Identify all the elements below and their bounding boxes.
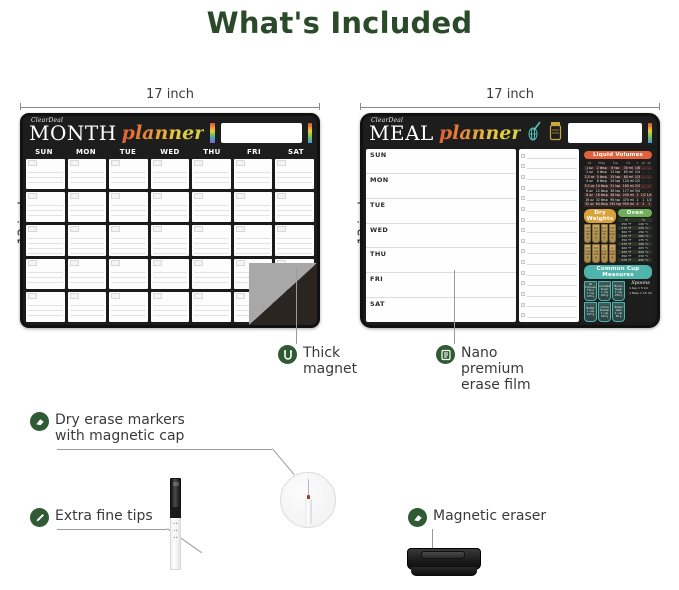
writing-lines <box>194 301 229 320</box>
shopping-list-item[interactable] <box>521 300 577 310</box>
writing-lines <box>194 234 229 253</box>
month-day-cell[interactable] <box>275 225 314 255</box>
fine-tip-magnifier <box>280 472 336 528</box>
nano-film-label: Nano premium erase film <box>461 345 531 393</box>
month-day-cell[interactable] <box>68 192 107 222</box>
liquid-cell: 5.3 oz <box>584 184 595 189</box>
dry-weight-jar: 2/3 cup 150 g <box>584 244 591 263</box>
writing-lines <box>28 268 63 287</box>
checkbox-icon[interactable] <box>521 281 525 285</box>
dry-weight-jars-row-1: 1/8 cup 30 g1/4 cup 55 g1/3 cup 75 g1/2 … <box>584 224 616 243</box>
meal-title-main: MEAL <box>369 123 434 143</box>
meal-planner-board[interactable]: ClearDeal MEAL planner <box>360 113 660 328</box>
conversion-chart-panel: Liquid Volumes oztbsptspmlcptqt 1 oz2 tb… <box>582 149 654 322</box>
list-line <box>527 206 577 212</box>
date-number-box[interactable] <box>153 193 162 199</box>
callout-extra-fine-tips: Extra fine tips <box>30 508 153 527</box>
dry-erase-marker[interactable]: •••••• <box>170 478 181 570</box>
date-number-box[interactable] <box>111 260 120 266</box>
date-number-box[interactable] <box>111 193 120 199</box>
list-line <box>527 164 577 170</box>
marker-magnetic-cap[interactable] <box>170 478 181 508</box>
writing-lines <box>70 268 105 287</box>
month-day-header-sat: SAT <box>275 146 317 159</box>
writing-lines <box>28 201 63 220</box>
marker-barrel: •••••• <box>170 518 181 570</box>
month-day-cell[interactable] <box>192 259 231 289</box>
cup-measure: Brown Sugar 1 cup 220 g <box>612 281 625 301</box>
month-day-cell[interactable] <box>151 192 190 222</box>
month-day-cell[interactable] <box>109 259 148 289</box>
writing-lines <box>70 301 105 320</box>
month-column-sun <box>26 159 65 322</box>
meal-rainbow-bar-icon <box>648 123 652 143</box>
list-line <box>527 185 577 191</box>
shopping-list-item[interactable] <box>521 289 577 299</box>
month-day-header-wed: WED <box>149 146 191 159</box>
month-day-header-row: SUNMONTUEWEDTHUFRISAT <box>23 146 317 159</box>
liquid-cell: 10 tbsp <box>595 184 609 189</box>
whisk-icon <box>527 121 545 145</box>
common-cup-measures-title: Common Cup Measures <box>584 265 652 279</box>
rainbow-bar-icon <box>210 123 215 143</box>
date-number-box[interactable] <box>236 160 245 166</box>
list-line <box>527 238 577 244</box>
liquid-volumes-table: oztbsptspmlcptqt 1 oz2 tbsp6 tsp30 ml1/8… <box>584 161 652 207</box>
month-column-thu <box>192 159 231 322</box>
liquid-cell: 31 tsp <box>609 184 623 189</box>
liquid-volumes-title: Liquid Volumes <box>584 151 652 159</box>
date-number-box[interactable] <box>153 293 162 299</box>
meal-board-header: ClearDeal MEAL planner <box>363 116 657 146</box>
shopping-list-item[interactable] <box>521 247 577 257</box>
list-line <box>527 280 577 286</box>
extra-fine-tips-label: Extra fine tips <box>55 508 153 524</box>
cup-measure: Butter 1 cup 227 g <box>584 302 597 322</box>
month-day-cell[interactable] <box>151 225 190 255</box>
liquid-cell: 160 ml <box>622 184 635 189</box>
oven-row: 475 °F245 °C <box>618 258 652 262</box>
shopping-list-item[interactable] <box>521 172 577 182</box>
cup-measure: Rolled Oats 1 cup 90 g <box>612 302 625 322</box>
meal-day-row-fri[interactable]: FRI <box>366 273 516 298</box>
shopping-list-item[interactable] <box>521 215 577 225</box>
liquid-cell: 64 tbsp <box>595 202 609 207</box>
list-line <box>527 291 577 297</box>
checkbox-icon[interactable] <box>521 249 525 253</box>
date-number-box[interactable] <box>277 226 286 232</box>
meal-day-row-tue[interactable]: TUE <box>366 199 516 224</box>
checkbox-icon[interactable] <box>521 154 525 158</box>
meal-day-row-thu[interactable]: THU <box>366 248 516 273</box>
markers-leader-diag <box>272 448 295 475</box>
month-day-cell[interactable] <box>109 159 148 189</box>
liquid-cell: 1 <box>646 202 652 207</box>
date-number-box[interactable] <box>236 293 245 299</box>
dry-weight-jars-row-2: 2/3 cup 150 g3/4 cup 170 g1 cup 225 g2 c… <box>584 244 616 263</box>
checkbox-icon[interactable] <box>521 292 525 296</box>
mason-jar-icon <box>549 121 562 145</box>
writing-lines <box>194 268 229 287</box>
date-number-box[interactable] <box>194 260 203 266</box>
month-width-dimension: 17 inch <box>20 84 320 110</box>
liquid-cell: 192 tsp <box>609 202 623 207</box>
markers-leader-h <box>57 449 272 450</box>
writing-lines <box>277 234 312 253</box>
dry-weight-jar: 1/4 cup 55 g <box>592 224 599 243</box>
writing-lines <box>111 234 146 253</box>
list-line <box>527 227 577 233</box>
date-number-box[interactable] <box>28 160 37 166</box>
month-day-header-fri: FRI <box>233 146 275 159</box>
date-number-box[interactable] <box>111 226 120 232</box>
fine-tips-leader-h <box>57 529 167 530</box>
writing-lines <box>111 168 146 187</box>
date-number-box[interactable] <box>28 193 37 199</box>
writing-lines <box>236 201 271 220</box>
date-number-box[interactable] <box>236 260 245 266</box>
writing-lines <box>236 168 271 187</box>
shopping-list-item[interactable] <box>521 236 577 246</box>
month-day-cell[interactable] <box>68 292 107 322</box>
date-number-box[interactable] <box>153 260 162 266</box>
month-day-cell[interactable] <box>275 159 314 189</box>
marker-color-band <box>170 508 181 518</box>
writing-lines <box>70 168 105 187</box>
month-planner-board[interactable]: ClearDeal MONTH planner SUNMONTUEWEDTHUF… <box>20 113 320 328</box>
month-title-script: planner <box>122 124 205 143</box>
month-day-cell[interactable] <box>192 159 231 189</box>
oven-table: °F°C250 °F120 °C275 °F135 °C300 °F150 °C… <box>618 218 652 262</box>
shopping-list-item[interactable] <box>521 162 577 172</box>
date-number-box[interactable] <box>194 226 203 232</box>
writing-lines <box>111 268 146 287</box>
shopping-list-item[interactable] <box>521 183 577 193</box>
dry-weight-jar: 3/4 cup 170 g <box>592 244 599 263</box>
eraser-icon <box>30 412 49 431</box>
checkbox-icon[interactable] <box>521 239 525 243</box>
eraser-icon <box>408 508 427 527</box>
oven-cell: 475 °F <box>618 258 635 262</box>
checkbox-icon[interactable] <box>521 303 525 307</box>
shopping-list-item[interactable] <box>521 151 577 161</box>
checkbox-icon[interactable] <box>521 196 525 200</box>
writing-lines <box>28 234 63 253</box>
marker-barrel-print: •• <box>173 536 178 540</box>
month-day-cell[interactable] <box>109 192 148 222</box>
month-day-header-tue: TUE <box>107 146 149 159</box>
date-number-box[interactable] <box>70 293 79 299</box>
writing-lines <box>111 301 146 320</box>
writing-lines <box>153 168 188 187</box>
date-number-box[interactable] <box>153 226 162 232</box>
meal-checklist[interactable] <box>519 149 579 322</box>
writing-lines <box>153 301 188 320</box>
date-number-box[interactable] <box>70 260 79 266</box>
month-column-tue <box>109 159 148 322</box>
month-title-main: MONTH <box>29 123 117 143</box>
list-line <box>527 217 577 223</box>
month-day-cell[interactable] <box>26 192 65 222</box>
callout-dry-erase-markers: Dry erase markers with magnetic cap <box>30 412 185 444</box>
month-day-cell[interactable] <box>26 259 65 289</box>
writing-lines <box>277 168 312 187</box>
month-board-header: ClearDeal MONTH planner <box>23 116 317 146</box>
marker-barrel-print: •• <box>173 522 178 526</box>
writing-lines <box>153 268 188 287</box>
cup-measure: Cocoa Powder 1 cup 100 g <box>598 302 611 322</box>
month-name-input[interactable] <box>221 123 302 143</box>
checkbox-icon[interactable] <box>521 218 525 222</box>
date-number-box[interactable] <box>194 160 203 166</box>
meal-day-row-sat[interactable]: SAT <box>366 298 516 322</box>
shopping-list-item[interactable] <box>521 204 577 214</box>
month-day-cell[interactable] <box>68 225 107 255</box>
meal-width-dimension: 17 inch <box>360 84 660 110</box>
date-number-box[interactable] <box>194 193 203 199</box>
month-day-cell[interactable] <box>234 225 273 255</box>
date-number-box[interactable] <box>277 160 286 166</box>
writing-lines <box>28 168 63 187</box>
writing-lines <box>153 234 188 253</box>
shopping-list-item[interactable] <box>521 257 577 267</box>
meal-week-input[interactable] <box>568 123 642 143</box>
marker-barrel-print: •• <box>173 529 178 533</box>
writing-lines <box>70 201 105 220</box>
date-number-box[interactable] <box>111 160 120 166</box>
month-day-cell[interactable] <box>68 159 107 189</box>
month-day-cell[interactable] <box>151 259 190 289</box>
dry-weight-jar: 1/3 cup 75 g <box>601 224 608 243</box>
magnetic-eraser-label: Magnetic eraser <box>433 508 546 524</box>
date-number-box[interactable] <box>28 260 37 266</box>
liquid-cell: 950 ml <box>622 202 635 207</box>
month-day-cell[interactable] <box>192 292 231 322</box>
checkbox-icon[interactable] <box>521 313 525 317</box>
list-line <box>527 153 577 159</box>
date-number-box[interactable] <box>28 293 37 299</box>
month-day-cell[interactable] <box>109 225 148 255</box>
magnet-icon <box>278 345 297 364</box>
list-line <box>527 270 577 276</box>
meal-board-body: SUNMONTUEWEDTHUFRISAT Liquid Volumes ozt… <box>363 146 657 325</box>
meal-day-row-sun[interactable]: SUN <box>366 149 516 174</box>
shopping-list-item[interactable] <box>521 310 577 320</box>
month-column-wed <box>151 159 190 322</box>
list-line <box>527 249 577 255</box>
date-number-box[interactable] <box>194 293 203 299</box>
month-day-header-sun: SUN <box>23 146 65 159</box>
dry-and-oven-row: Dry Weights 1/8 cup 30 g1/4 cup 55 g1/3 … <box>584 209 652 263</box>
month-day-cell[interactable] <box>192 225 231 255</box>
list-line <box>527 312 577 318</box>
shopping-list-item[interactable] <box>521 279 577 289</box>
month-day-cell[interactable] <box>275 192 314 222</box>
cup-measure: Granulated Sugar 1 cup 200 g <box>598 281 611 301</box>
month-day-cell[interactable] <box>68 259 107 289</box>
month-day-cell[interactable] <box>234 192 273 222</box>
film-icon <box>436 345 455 364</box>
shopping-list-item[interactable] <box>521 194 577 204</box>
checkbox-icon[interactable] <box>521 228 525 232</box>
month-day-header-thu: THU <box>191 146 233 159</box>
writing-lines <box>28 301 63 320</box>
list-line <box>527 174 577 180</box>
liquid-cell: 2/3 <box>635 184 641 189</box>
thick-magnet-label: Thick magnet <box>303 345 357 377</box>
thick-magnet-leader <box>296 268 297 344</box>
date-number-box[interactable] <box>236 193 245 199</box>
meal-brand-logo: ClearDeal <box>371 117 403 124</box>
oven-cell: 245 °C <box>635 258 652 262</box>
dry-weight-jar: 1 cup 225 g <box>601 244 608 263</box>
meal-day-row-wed[interactable]: WED <box>366 224 516 249</box>
checkbox-icon[interactable] <box>521 271 525 275</box>
shopping-list-item[interactable] <box>521 225 577 235</box>
checkbox-icon[interactable] <box>521 164 525 168</box>
shopping-list-item[interactable] <box>521 268 577 278</box>
date-number-box[interactable] <box>111 293 120 299</box>
month-column-mon <box>68 159 107 322</box>
liquid-volume-row: 32 oz64 tbsp192 tsp950 ml421 <box>584 202 652 207</box>
checkbox-icon[interactable] <box>521 207 525 211</box>
meal-day-rows[interactable]: SUNMONTUEWEDTHUFRISAT <box>366 149 516 322</box>
month-day-cell[interactable] <box>26 159 65 189</box>
month-day-cell[interactable] <box>26 225 65 255</box>
month-day-header-mon: MON <box>65 146 107 159</box>
peel-corner <box>249 263 317 325</box>
writing-lines <box>70 234 105 253</box>
month-day-cell[interactable] <box>26 292 65 322</box>
month-day-cell[interactable] <box>109 292 148 322</box>
liquid-cell: 32 oz <box>584 202 595 207</box>
spoon-conversion: 1 tbsp = 15 ml <box>629 291 652 296</box>
writing-lines <box>153 201 188 220</box>
month-day-cell[interactable] <box>151 292 190 322</box>
nano-film-leader <box>454 270 455 344</box>
checkbox-icon[interactable] <box>521 186 525 190</box>
month-day-cell[interactable] <box>151 159 190 189</box>
cup-measure: All Purpose Flour 1 cup 125 g <box>584 281 597 301</box>
dry-weight-jar: 1/8 cup 30 g <box>584 224 591 243</box>
date-number-box[interactable] <box>28 226 37 232</box>
month-day-cell[interactable] <box>192 192 231 222</box>
writing-lines <box>111 201 146 220</box>
list-line <box>527 302 577 308</box>
date-number-box[interactable] <box>153 160 162 166</box>
rainbow-bar-right-icon <box>308 123 312 143</box>
dry-weight-jar: 2 cup 450 g <box>609 244 616 263</box>
cups-row-1: All Purpose Flour 1 cup 125 gGranulated … <box>584 281 625 301</box>
callout-thick-magnet: Thick magnet <box>278 345 357 377</box>
date-number-box[interactable] <box>277 193 286 199</box>
checkbox-icon[interactable] <box>521 175 525 179</box>
month-day-cell[interactable] <box>234 159 273 189</box>
callout-nano-film: Nano premium erase film <box>436 345 531 393</box>
magnetic-eraser-product[interactable] <box>405 548 483 580</box>
date-number-box[interactable] <box>70 160 79 166</box>
list-line <box>527 259 577 265</box>
dry-erase-markers-label: Dry erase markers with magnetic cap <box>55 412 185 444</box>
callout-magnetic-eraser: Magnetic eraser <box>408 508 546 527</box>
spoons-panel: Spoons 1 tsp = 5 ml1 tbsp = 15 ml <box>627 281 652 322</box>
writing-lines <box>194 168 229 187</box>
date-number-box[interactable] <box>70 226 79 232</box>
cups-row-2: Butter 1 cup 227 gCocoa Powder 1 cup 100… <box>584 302 625 322</box>
writing-lines <box>194 201 229 220</box>
checkbox-icon[interactable] <box>521 260 525 264</box>
meal-title-script: planner <box>439 124 522 143</box>
dry-weights-title: Dry Weights <box>584 209 616 223</box>
meal-day-row-mon[interactable]: MON <box>366 174 516 199</box>
meal-width-label: 17 inch <box>486 87 534 102</box>
writing-lines <box>236 234 271 253</box>
month-brand-logo: ClearDeal <box>31 117 63 124</box>
writing-lines <box>277 201 312 220</box>
date-number-box[interactable] <box>70 193 79 199</box>
page-title: What's Included <box>0 6 679 40</box>
dry-weight-jar: 1/2 cup 115 g <box>609 224 616 243</box>
cup-measures-row: All Purpose Flour 1 cup 125 gGranulated … <box>584 281 652 322</box>
pen-icon <box>30 508 49 527</box>
oven-title: Oven <box>618 209 652 217</box>
date-number-box[interactable] <box>236 226 245 232</box>
month-width-label: 17 inch <box>146 87 194 102</box>
list-line <box>527 195 577 201</box>
